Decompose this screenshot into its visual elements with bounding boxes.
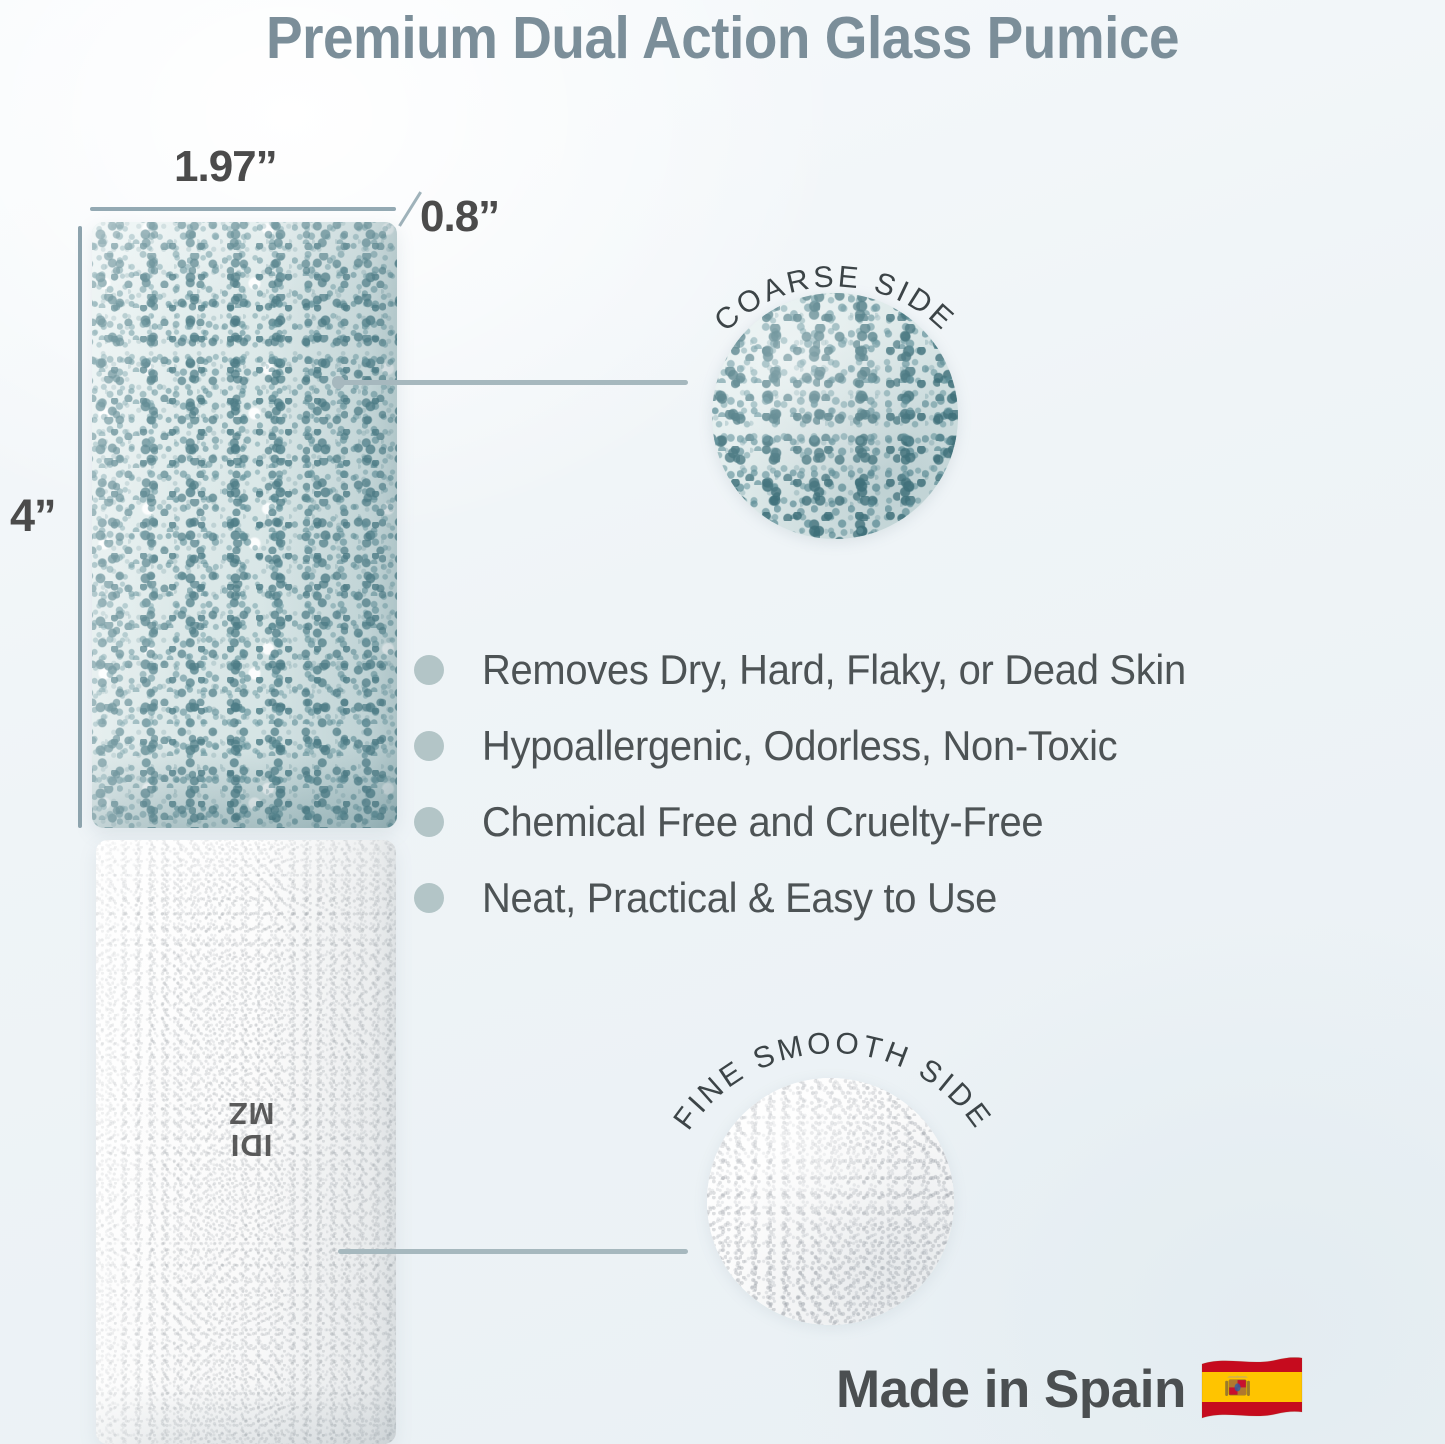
coarse-side-label: COARSE SIDE [708,260,962,338]
feature-list: Removes Dry, Hard, Flaky, or Dead Skin H… [414,632,1314,936]
depth-dimension-tick [398,191,422,227]
list-item: Chemical Free and Cruelty-Free [414,784,1314,860]
depth-dimension-label: 0.8” [420,192,499,242]
coarse-block-shading [92,222,397,828]
bullet-dot-icon [414,807,444,837]
made-in-spain-label: Made in Spain [836,1359,1186,1420]
bullet-dot-icon [414,655,444,685]
coarse-side-arc-label: COARSE SIDE [682,238,988,418]
bullet-dot-icon [414,731,444,761]
product-infographic: Premium Dual Action Glass Pumice 1.97” 0… [0,0,1445,1444]
spain-flag-icon [1200,1352,1304,1426]
height-dimension-line [78,226,82,828]
coarse-pumice-block [92,222,397,828]
list-item: Hypoallergenic, Odorless, Non-Toxic [414,708,1314,784]
made-in-spain-badge: Made in Spain [836,1352,1304,1426]
feature-label: Neat, Practical & Easy to Use [482,874,997,922]
feature-label: Hypoallergenic, Odorless, Non-Toxic [482,722,1117,770]
list-item: Removes Dry, Hard, Flaky, or Dead Skin [414,632,1314,708]
fine-side-arc-label: FINE SMOOTH SIDE [660,1012,1006,1202]
bullet-dot-icon [414,883,444,913]
list-item: Neat, Practical & Easy to Use [414,860,1314,936]
brand-stamp: IDIMZ [205,1098,297,1161]
page-title: Premium Dual Action Glass Pumice [51,4,1395,72]
width-dimension-line [90,207,396,211]
feature-label: Chemical Free and Cruelty-Free [482,798,1043,846]
fine-smooth-side-label: FINE SMOOTH SIDE [667,1027,998,1136]
fine-leader-line [338,1249,688,1254]
width-dimension-label: 1.97” [174,142,277,192]
feature-label: Removes Dry, Hard, Flaky, or Dead Skin [482,646,1186,694]
height-dimension-label: 4” [10,490,56,542]
coarse-leader-line [338,380,688,385]
